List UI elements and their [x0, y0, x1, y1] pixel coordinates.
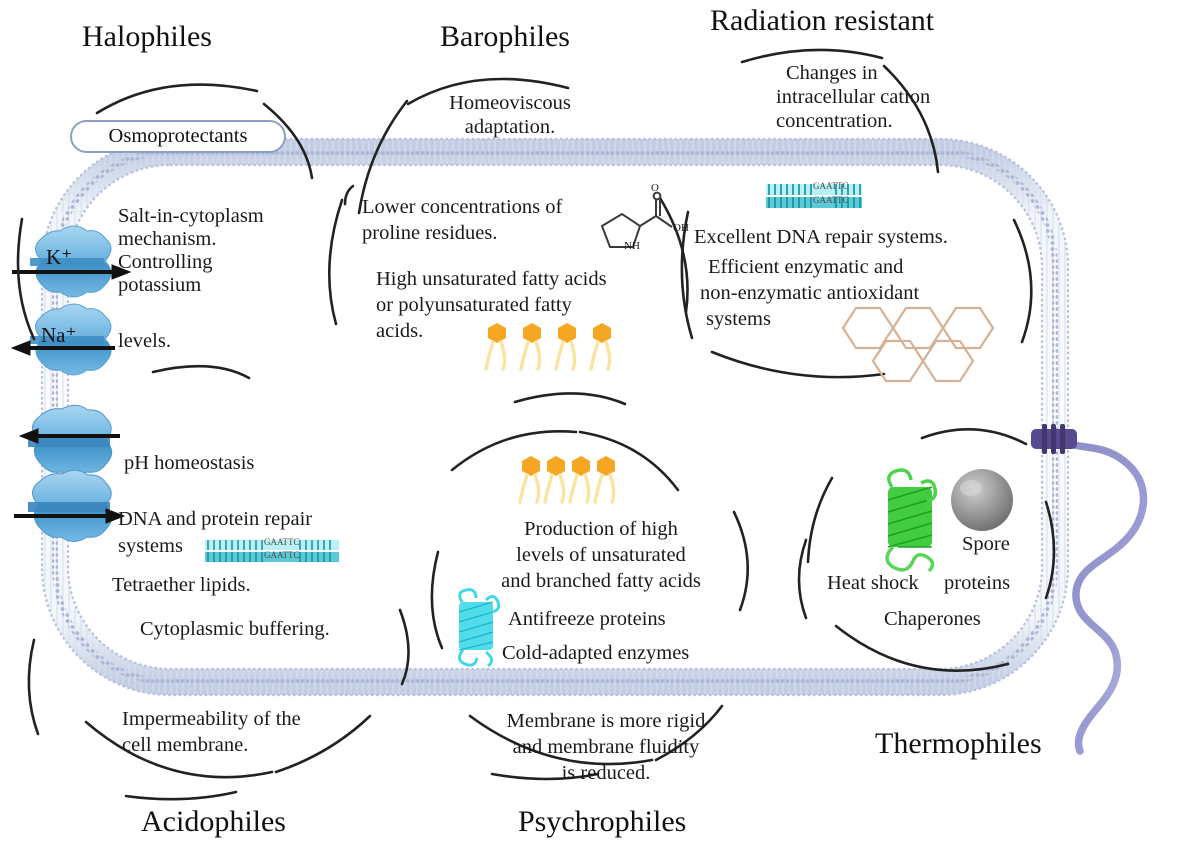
text-production-3: and branched fatty acids [466, 570, 736, 593]
text-tetraether-lipids: Tetraether lipids. [112, 574, 251, 597]
dna-repair-sequence-top: GAATTC [264, 537, 300, 547]
proline-hydroxyl-label: OH [673, 222, 689, 234]
category-radiation-resistant: Radiation resistant [710, 4, 934, 38]
bracket-arcs [18, 50, 1054, 799]
text-controlling: Controlling [118, 251, 213, 274]
fatty-acid-icons-psychrophiles [520, 456, 615, 502]
category-barophiles: Barophiles [440, 20, 570, 54]
text-impermeability-2: cell membrane. [122, 734, 248, 757]
membrane-channel-proton-influx [28, 470, 112, 541]
text-dna-protein-repair: DNA and protein repair [118, 508, 312, 531]
text-high-unsaturated-2: or polyunsaturated fatty [376, 294, 572, 317]
text-changes-in: Changes in [786, 62, 878, 85]
category-thermophiles: Thermophiles [875, 727, 1042, 761]
text-membrane-rigid-2: and membrane fluidity [474, 736, 738, 759]
text-excellent-dna: Excellent DNA repair systems. [694, 226, 948, 249]
text-mechanism: mechanism. [118, 228, 217, 251]
text-membrane-rigid-3: is reduced. [474, 762, 738, 785]
text-high-unsaturated-1: High unsaturated fatty acids [376, 268, 607, 291]
text-heat-shock: Heat shock [827, 572, 919, 595]
membrane-channel-proton-efflux [28, 405, 112, 476]
heat-shock-protein-icon [887, 470, 935, 571]
text-spore: Spore [962, 533, 1010, 556]
antifreeze-protein-icon [459, 590, 499, 666]
dna-repair-sequence-bottom: GAATTC [264, 550, 300, 560]
text-systems-antioxidant: systems [706, 308, 771, 331]
flagellar-motor-icon [1031, 424, 1077, 454]
dna-sequence-bottom: GAATTC [813, 195, 849, 205]
text-high-unsaturated-3: acids. [376, 320, 423, 343]
proline-molecule-icon [602, 193, 672, 247]
text-ph-homeostasis: pH homeostasis [124, 452, 254, 475]
antioxidant-polycyclic-icon [843, 308, 993, 381]
flagellum [1066, 443, 1144, 751]
text-non-enzymatic: non-enzymatic antioxidant [700, 282, 919, 305]
text-systems-repair: systems [118, 535, 183, 558]
text-cold-adapted-enzymes: Cold-adapted enzymes [502, 642, 689, 665]
text-efficient-enzymatic: Efficient enzymatic and [708, 256, 903, 279]
text-chaperones: Chaperones [884, 608, 981, 631]
text-heat-shock-proteins: proteins [944, 572, 1010, 595]
proline-amine-label: NH [624, 240, 640, 252]
text-membrane-rigid-1: Membrane is more rigid [474, 710, 738, 733]
proline-oxygen-label: O [651, 182, 659, 194]
text-antifreeze-proteins: Antifreeze proteins [508, 608, 666, 631]
transport-arrows [12, 265, 130, 523]
text-cytoplasmic-buffering: Cytoplasmic buffering. [140, 618, 330, 641]
text-potassium: potassium [118, 274, 201, 297]
category-halophiles: Halophiles [82, 20, 212, 54]
dna-sequence-top: GAATTC [813, 181, 849, 191]
text-homeoviscous: Homeoviscous [400, 92, 620, 115]
text-levels: levels. [118, 330, 171, 353]
ion-label-potassium: K⁺ [46, 246, 72, 270]
text-concentration: concentration. [776, 110, 893, 133]
text-production-1: Production of high [466, 518, 736, 541]
osmoprotectants-badge: Osmoprotectants [70, 120, 286, 153]
ion-label-sodium: Na⁺ [41, 324, 77, 348]
text-impermeability-1: Impermeability of the [122, 708, 301, 731]
spore-icon [951, 469, 1013, 531]
text-salt-in-cytoplasm: Salt-in-cytoplasm [118, 205, 264, 228]
osmoprotectants-label: Osmoprotectants [72, 122, 284, 151]
text-intracellular-cation: intracellular cation [776, 86, 930, 109]
extremophile-diagram: Osmoprotectants Halophiles Barophiles Ra… [0, 0, 1200, 863]
text-production-2: levels of unsaturated [466, 544, 736, 567]
text-adaptation: adaptation. [400, 116, 620, 139]
category-acidophiles: Acidophiles [141, 805, 286, 839]
category-psychrophiles: Psychrophiles [518, 805, 686, 839]
fatty-acid-icons-barophiles [486, 323, 611, 369]
text-proline-residues: proline residues. [362, 222, 498, 245]
text-lower-concentrations: Lower concentrations of [362, 196, 562, 219]
